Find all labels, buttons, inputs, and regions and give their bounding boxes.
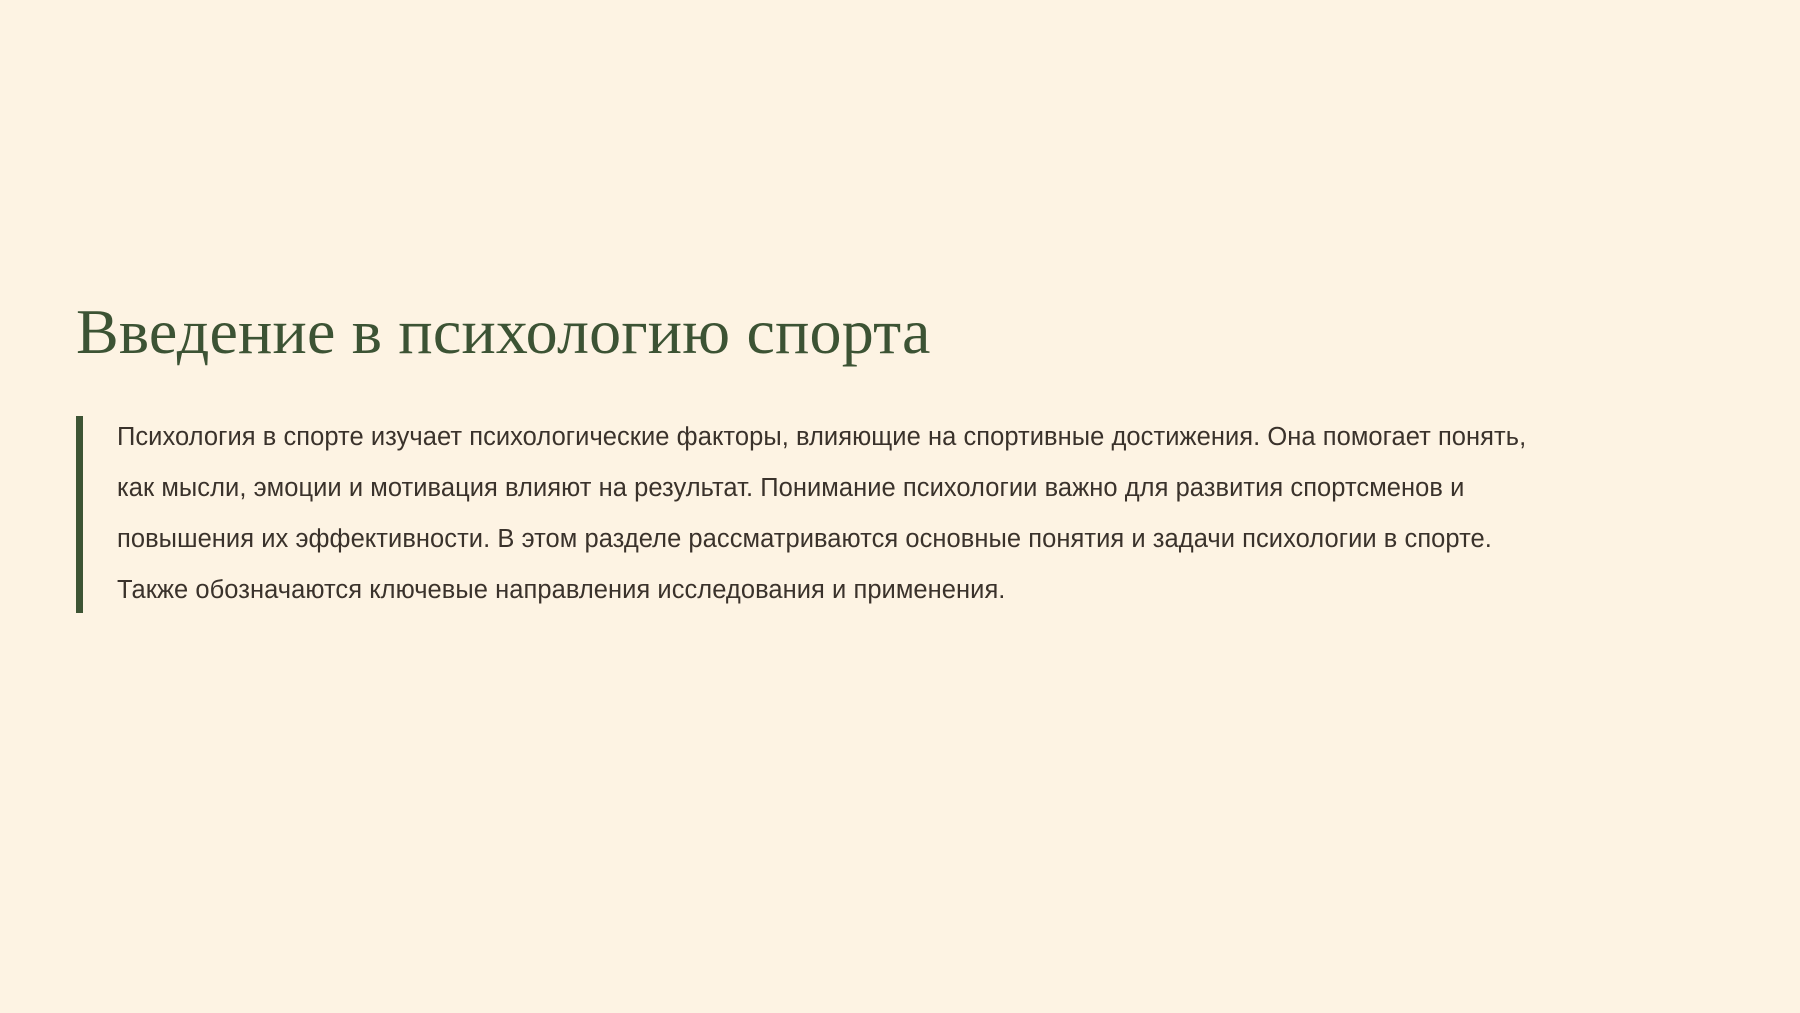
slide-canvas: Введение в психологию спорта Психология … <box>0 0 1800 1013</box>
body-paragraph: Психология в спорте изучает психологичес… <box>117 412 1537 616</box>
slide-content: Введение в психологию спорта Психология … <box>76 296 1676 616</box>
page-title: Введение в психологию спорта <box>76 296 1676 368</box>
accent-bar <box>76 416 83 613</box>
body-callout: Психология в спорте изучает психологичес… <box>76 412 1537 616</box>
